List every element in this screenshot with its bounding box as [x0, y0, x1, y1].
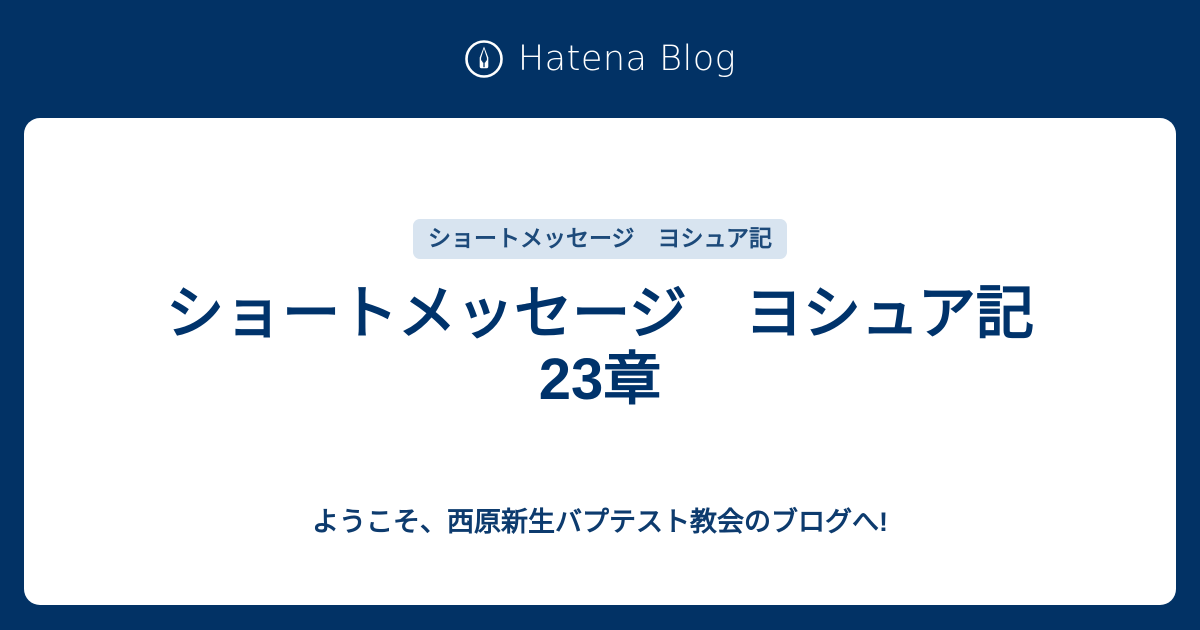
- blog-description-row: ようこそ、西原新生バプテスト教会のブログへ!: [24, 506, 1176, 538]
- category-tag[interactable]: ショートメッセージ ヨシュア記: [413, 219, 787, 259]
- entry-title-row: ショートメッセージ ヨシュア記 23章: [24, 281, 1176, 412]
- brand-header: Hatena Blog: [0, 0, 1200, 118]
- ogp-card-root: Hatena Blog ショートメッセージ ヨシュア記 ショートメッセージ ヨシ…: [0, 0, 1200, 630]
- blog-description: ようこそ、西原新生バプテスト教会のブログへ!: [312, 506, 888, 538]
- entry-title: ショートメッセージ ヨシュア記 23章: [160, 281, 1040, 412]
- hatena-blog-logo: [464, 39, 504, 79]
- category-tag-row: ショートメッセージ ヨシュア記: [24, 219, 1176, 259]
- brand-name-text: Hatena Blog: [518, 42, 736, 77]
- pen-nib-circle-icon: [464, 39, 504, 79]
- content-card: ショートメッセージ ヨシュア記 ショートメッセージ ヨシュア記 23章 ようこそ…: [24, 118, 1176, 605]
